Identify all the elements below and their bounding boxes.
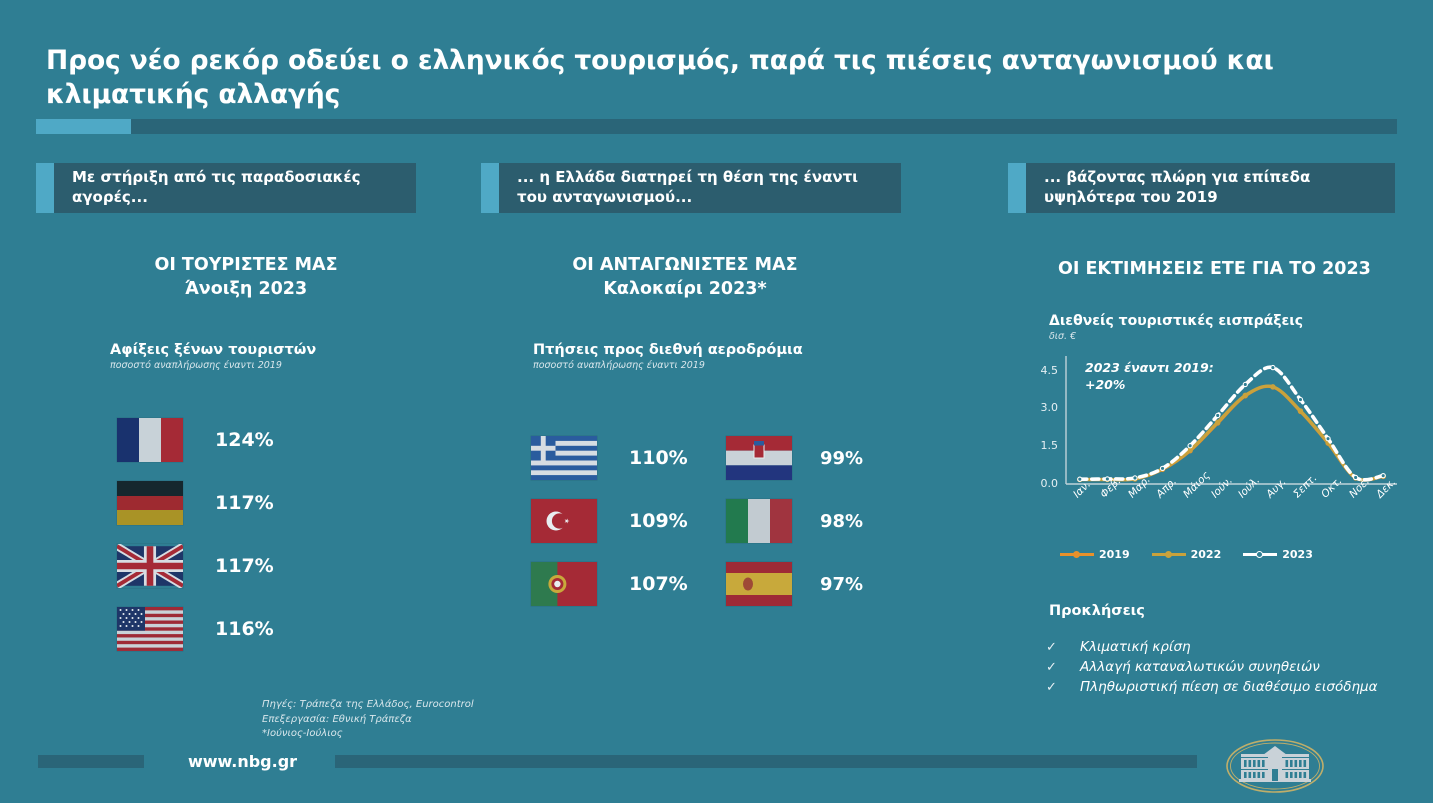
value-usa: 116% (215, 618, 274, 640)
source-line-3: *Ιούνιος-Ιούλιος (262, 727, 474, 742)
page-title: Προς νέο ρεκόρ οδεύει ο ελληνικός τουρισ… (46, 44, 1296, 112)
legend-swatch (1152, 553, 1186, 556)
legend-item[interactable]: 2019 (1060, 548, 1130, 561)
value-croatia: 99% (820, 448, 863, 469)
value-germany: 117% (215, 492, 274, 514)
legend-label: 2019 (1099, 548, 1130, 561)
section-banner-competitors: ... η Ελλάδα διατηρεί τη θέση της έναντι… (481, 163, 901, 213)
legend-marker (1165, 551, 1172, 558)
heading-line-1: ΟΙ ΑΝΤΑΓΩΝΙΣΤΕΣ ΜΑΣ (455, 254, 915, 278)
section-banner-tourists: Με στήριξη από τις παραδοσιακές αγορές..… (36, 163, 416, 213)
list-item: 97% (726, 562, 863, 606)
spain-flag-svg (726, 562, 792, 606)
banner-accent (481, 163, 499, 213)
source-line-1: Πηγές: Τράπεζα της Ελλάδος, Eurocontrol (262, 698, 474, 713)
infographic-page: Προς νέο ρεκόρ οδεύει ο ελληνικός τουρισ… (0, 0, 1433, 803)
list-item: 107% (531, 562, 688, 606)
usa-flag-svg (117, 607, 183, 651)
column-heading-tourists: ΟΙ ΤΟΥΡΙΣΤΕΣ ΜΑΣ Άνοιξη 2023 (36, 254, 456, 301)
list-item: 110% (531, 436, 688, 480)
value-turkey: 109% (629, 510, 688, 532)
value-uk: 117% (215, 555, 274, 577)
flag-croatia (726, 436, 792, 480)
list-item: 124% (117, 418, 274, 462)
check-icon: ✓ (1046, 640, 1080, 655)
footer-website-url[interactable]: www.nbg.gr (155, 752, 330, 771)
challenge-item: ✓Κλιματική κρίση (1046, 639, 1406, 655)
banner-accent (36, 163, 54, 213)
challenges-list: ✓Κλιματική κρίση✓Αλλαγή καταναλωτικών συ… (1046, 639, 1406, 699)
list-item: 99% (726, 436, 863, 480)
chart-legend: 201920222023 (1060, 548, 1313, 561)
legend-marker (1073, 551, 1080, 558)
flag-spain (726, 562, 792, 606)
footer-bar-left (38, 755, 144, 768)
list-item: 109% (531, 499, 688, 543)
sources-note: Πηγές: Τράπεζα της Ελλάδος, Eurocontrol … (262, 698, 474, 742)
title-divider (36, 119, 1397, 134)
challenge-item: ✓Πληθωριστική πίεση σε διαθέσιμο εισόδημ… (1046, 679, 1406, 695)
source-line-2: Επεξεργασία: Εθνική Τράπεζα (262, 713, 474, 728)
challenge-item: ✓Αλλαγή καταναλωτικών συνηθειών (1046, 659, 1406, 675)
value-france: 124% (215, 429, 274, 451)
heading-line-2: Καλοκαίρι 2023* (455, 278, 915, 302)
uk-flag-svg (117, 544, 183, 588)
subnote-arrivals: ποσοστό αναπλήρωσης έναντι 2019 (110, 360, 282, 371)
subhead-receipts: Διεθνείς τουριστικές εισπράξεις (1049, 313, 1303, 329)
banner-label: ... η Ελλάδα διατηρεί τη θέση της έναντι… (499, 168, 901, 208)
heading-line-1: ΟΙ ΤΟΥΡΙΣΤΕΣ ΜΑΣ (36, 254, 456, 278)
list-item: 98% (726, 499, 863, 543)
portugal-flag-svg (531, 562, 597, 606)
chart-annotation: 2023 έναντι 2019: +20% (1085, 360, 1214, 394)
banner-label: ... βάζοντας πλώρη για επίπεδα υψηλότερα… (1026, 168, 1395, 208)
section-banner-estimates: ... βάζοντας πλώρη για επίπεδα υψηλότερα… (1008, 163, 1395, 213)
list-item: 116% (117, 607, 274, 651)
annotation-line-1: 2023 έναντι 2019: (1085, 360, 1214, 377)
flag-turkey (531, 499, 597, 543)
legend-label: 2023 (1282, 548, 1313, 561)
turkey-flag-svg (531, 499, 597, 543)
subnote-receipts: δισ. € (1049, 331, 1076, 342)
greece-flag-svg (531, 436, 597, 480)
subnote-flights: ποσοστό αναπλήρωσης έναντι 2019 (533, 360, 705, 371)
list-item: 117% (117, 544, 274, 588)
subhead-arrivals: Αφίξεις ξένων τουριστών (110, 342, 316, 358)
value-portugal: 107% (629, 573, 688, 595)
flag-uk (117, 544, 183, 588)
divider-accent (36, 119, 131, 134)
legend-marker (1256, 551, 1263, 558)
flag-portugal (531, 562, 597, 606)
check-icon: ✓ (1046, 680, 1080, 695)
flag-usa (117, 607, 183, 651)
heading-line-2: Άνοιξη 2023 (36, 278, 456, 302)
annotation-line-2: +20% (1085, 377, 1214, 394)
legend-label: 2022 (1191, 548, 1222, 561)
legend-swatch (1243, 553, 1277, 556)
flag-greece (531, 436, 597, 480)
flag-italy (726, 499, 792, 543)
receipts-line-chart: 2023 έναντι 2019: +20% 0.01.53.04.5 Ιαν.… (1030, 352, 1405, 537)
nbg-building-logo (1223, 736, 1327, 796)
croatia-flag-svg (726, 436, 792, 480)
footer-bar-right (335, 755, 1197, 768)
value-greece: 110% (629, 447, 688, 469)
column-heading-competitors: ΟΙ ΑΝΤΑΓΩΝΙΣΤΕΣ ΜΑΣ Καλοκαίρι 2023* (455, 254, 915, 301)
legend-swatch (1060, 553, 1094, 556)
check-icon: ✓ (1046, 660, 1080, 675)
value-spain: 97% (820, 574, 863, 595)
banner-label: Με στήριξη από τις παραδοσιακές αγορές..… (54, 168, 416, 208)
challenge-label: Αλλαγή καταναλωτικών συνηθειών (1080, 659, 1320, 675)
legend-item[interactable]: 2022 (1152, 548, 1222, 561)
challenges-title: Προκλήσεις (1049, 603, 1145, 619)
flag-france (117, 418, 183, 462)
value-italy: 98% (820, 511, 863, 532)
challenge-label: Πληθωριστική πίεση σε διαθέσιμο εισόδημα (1080, 679, 1378, 695)
flag-germany (117, 481, 183, 525)
challenge-label: Κλιματική κρίση (1080, 639, 1191, 655)
legend-item[interactable]: 2023 (1243, 548, 1313, 561)
list-item: 117% (117, 481, 274, 525)
column-heading-estimates: ΟΙ ΕΚΤΙΜΗΣΕΙΣ ΕΤΕ ΓΙΑ ΤΟ 2023 (1008, 258, 1398, 282)
subhead-flights: Πτήσεις προς διεθνή αεροδρόμια (533, 342, 803, 358)
banner-accent (1008, 163, 1026, 213)
